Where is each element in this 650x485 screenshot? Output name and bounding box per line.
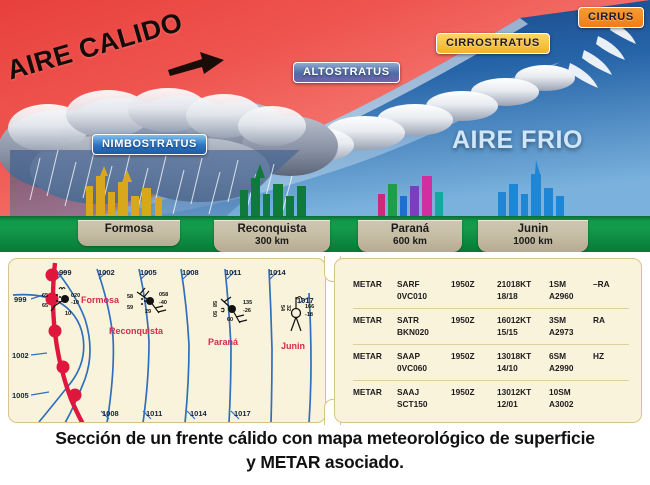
station-temp: 58: [127, 294, 133, 300]
metar-weather: RA: [593, 315, 627, 327]
metar-table-panel: METAR SARF 0VC010 1950Z 21018KT 18/18 1S…: [334, 258, 642, 423]
map-city-junin: Junin: [281, 341, 305, 351]
cloud-label-cirrus: CIRRUS: [578, 7, 644, 28]
right-arrow-icon: [166, 48, 226, 80]
city-name: Reconquista: [214, 223, 330, 236]
metar-type: METAR: [353, 279, 397, 291]
station-extra: 10: [65, 311, 71, 317]
metar-station: SAAP 0VC060: [397, 351, 451, 374]
station-dewpoint: 50: [211, 311, 217, 317]
metar-wind-value: 13012KT: [497, 387, 531, 397]
metar-altimeter: A3002: [549, 399, 593, 411]
warm-front-cross-section: AIRE CALIDO AIRE FRIO CIRRUS CIRROSTRATU…: [0, 0, 650, 252]
metar-table: METAR SARF 0VC010 1950Z 21018KT 18/18 1S…: [353, 273, 629, 416]
metar-time: 1950Z: [451, 279, 497, 291]
metar-visibility: 6SM A2990: [549, 351, 593, 374]
city-plaque-reconquista: Reconquista 300 km: [214, 220, 330, 252]
table-row: METAR SAAJ SCT150 1950Z 13012KT 12/01 10…: [353, 380, 629, 416]
cold-air-label: AIRE FRIO: [452, 126, 583, 155]
station-dewpoint: 32: [285, 305, 291, 311]
metar-temps: 14/10: [497, 363, 549, 375]
isobar-chart: [9, 259, 326, 423]
metar-time: 1950Z: [451, 387, 497, 399]
isobar-label: 1005: [12, 391, 29, 400]
metar-sky: 0VC010: [397, 291, 451, 303]
station-temp: 65: [42, 293, 48, 299]
metar-station: SATR BKN020: [397, 315, 451, 338]
isobar-label: 1017: [234, 409, 251, 418]
metar-vis-value: 1SM: [549, 279, 566, 289]
city-name: Paraná: [358, 223, 462, 236]
metar-wind-value: 21018KT: [497, 279, 531, 289]
isobar-label: 1005: [140, 268, 157, 277]
city-name: Junin: [478, 223, 588, 236]
metar-weather: HZ: [593, 351, 627, 363]
isobar-label: 1002: [12, 351, 29, 360]
cloud-label-altostratus: ALTOSTRATUS: [293, 62, 400, 83]
station-pressure-change: -40: [159, 300, 167, 306]
city-name: Formosa: [78, 223, 180, 236]
city-plaque-parana: Paraná 600 km: [358, 220, 462, 252]
metar-station: SARF 0VC010: [397, 279, 451, 302]
station-dewpoint: 65: [42, 303, 48, 309]
metar-sky: SCT150: [397, 399, 451, 411]
station-pressure-change: -18: [305, 312, 313, 318]
map-city-parana: Paraná: [208, 337, 238, 347]
metar-temps: 18/18: [497, 291, 549, 303]
station-pressure-change: -10: [71, 300, 79, 306]
station-pressure: 020: [71, 293, 80, 299]
metar-wind-value: 13018KT: [497, 351, 531, 361]
metar-vis-value: 10SM: [549, 387, 571, 397]
figure-root: AIRE CALIDO AIRE FRIO CIRRUS CIRROSTRATU…: [0, 0, 650, 485]
metar-visibility: 1SM A2960: [549, 279, 593, 302]
city-plaque-formosa: Formosa: [78, 220, 180, 246]
isobar-label: 1011: [146, 409, 162, 418]
isobar-label: 1014: [190, 409, 207, 418]
isobar-label: 1008: [182, 268, 199, 277]
isobar-label: 1008: [102, 409, 119, 418]
caption-line-1: Sección de un frente cálido con mapa met…: [0, 426, 650, 450]
metar-temps: 12/01: [497, 399, 549, 411]
cloud-label-nimbostratus: NIMBOSTRATUS: [92, 134, 207, 155]
metar-visibility: 10SM A3002: [549, 387, 593, 410]
caption-line-2: y METAR asociado.: [0, 450, 650, 474]
metar-altimeter: A2960: [549, 291, 593, 303]
station-dewpoint: 59: [127, 305, 133, 311]
metar-altimeter: A2973: [549, 327, 593, 339]
metar-vis-value: 6SM: [549, 351, 566, 361]
metar-station-id: SATR: [397, 315, 419, 325]
station-extra: 29: [145, 309, 151, 315]
figure-caption: Sección de un frente cálido con mapa met…: [0, 426, 650, 474]
city-distance: 600 km: [358, 236, 462, 248]
metar-wind: 13018KT 14/10: [497, 351, 549, 374]
station-pressure-change: -26: [243, 308, 251, 314]
station-temp: 58: [211, 301, 217, 307]
metar-wind: 16012KT 15/15: [497, 315, 549, 338]
table-row: METAR SARF 0VC010 1950Z 21018KT 18/18 1S…: [353, 273, 629, 308]
isobar-label: 999: [59, 268, 72, 277]
isobar-label: 1011: [225, 268, 241, 277]
metar-sky: BKN020: [397, 327, 451, 339]
table-row: METAR SATR BKN020 1950Z 16012KT 15/15 3S…: [353, 308, 629, 344]
metar-type: METAR: [353, 315, 397, 327]
metar-station-id: SARF: [397, 279, 420, 289]
metar-type: METAR: [353, 351, 397, 363]
table-row: METAR SAAP 0VC060 1950Z 13018KT 14/10 6S…: [353, 344, 629, 380]
cloud-label-cirrostratus: CIRROSTRATUS: [436, 33, 550, 54]
metar-temps: 15/15: [497, 327, 549, 339]
station-extra: 60: [227, 317, 233, 323]
station-pressure: 135: [243, 300, 252, 306]
city-distance: 1000 km: [478, 236, 588, 248]
metar-wind: 21018KT 18/18: [497, 279, 549, 302]
metar-vis-value: 3SM: [549, 315, 566, 325]
isobar-label: 1002: [98, 268, 115, 277]
metar-time: 1950Z: [451, 315, 497, 327]
city-distance: 300 km: [214, 236, 330, 248]
metar-station-id: SAAJ: [397, 387, 419, 397]
isobar-label: 1014: [269, 268, 286, 277]
metar-wind: 13012KT 12/01: [497, 387, 549, 410]
warm-front-line: [46, 263, 84, 423]
metar-wind-value: 16012KT: [497, 315, 531, 325]
isobar-label: 999: [14, 295, 27, 304]
metar-weather: –RA: [593, 279, 627, 291]
metar-altimeter: A2990: [549, 363, 593, 375]
station-pressure: 058: [159, 292, 168, 298]
metar-time: 1950Z: [451, 351, 497, 363]
metar-station-id: SAAP: [397, 351, 420, 361]
metar-sky: 0VC060: [397, 363, 451, 375]
city-plaque-junin: Junin 1000 km: [478, 220, 588, 252]
station-pressure: 166: [305, 304, 314, 310]
map-city-reconquista: Reconquista: [109, 326, 163, 336]
metar-type: METAR: [353, 387, 397, 399]
metar-visibility: 3SM A2973: [549, 315, 593, 338]
metar-station: SAAJ SCT150: [397, 387, 451, 410]
map-city-formosa: Formosa: [81, 295, 119, 305]
surface-weather-map-panel: 999 1002 1005 1008 1011 1014 1008 1011 1…: [8, 258, 326, 423]
